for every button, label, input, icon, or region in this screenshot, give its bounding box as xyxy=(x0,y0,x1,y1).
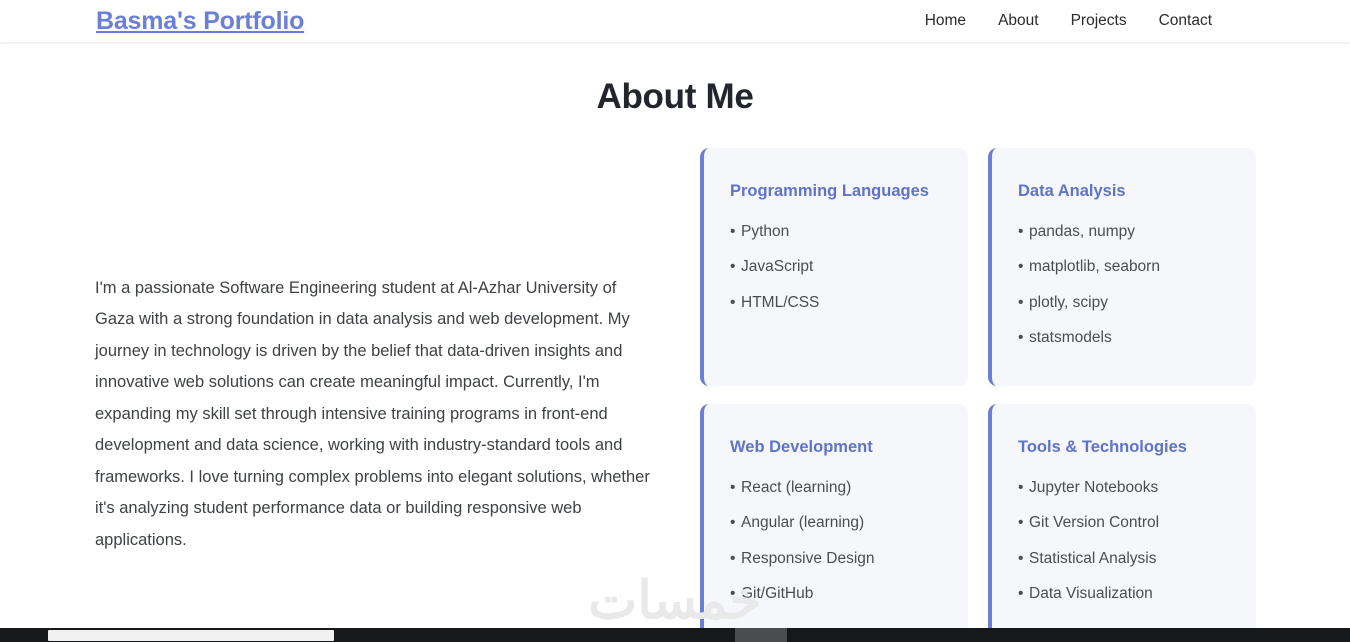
skill-list-item: •plotly, scipy xyxy=(1018,295,1230,311)
bullet-icon: • xyxy=(1018,224,1029,240)
bullet-icon: • xyxy=(1018,551,1029,567)
skill-card-data-analysis: Data Analysis •pandas, numpy •matplotlib… xyxy=(988,148,1256,386)
skill-label: HTML/CSS xyxy=(741,294,819,311)
skill-card-title: Web Development xyxy=(730,438,942,458)
skill-label: Git/GitHub xyxy=(741,585,813,602)
skill-list: •Jupyter Notebooks •Git Version Control … xyxy=(1018,480,1230,602)
scrollbar-track-marker xyxy=(735,628,787,642)
browser-viewport: Basma's Portfolio Home About Projects Co… xyxy=(0,0,1350,642)
skill-card-title: Data Analysis xyxy=(1018,182,1230,202)
skill-card-programming-languages: Programming Languages •Python •JavaScrip… xyxy=(700,148,968,386)
skill-list-item: •Data Visualization xyxy=(1018,586,1230,602)
skill-list: •React (learning) •Angular (learning) •R… xyxy=(730,480,942,602)
nav-item-about[interactable]: About xyxy=(982,13,1055,29)
skill-list: •Python •JavaScript •HTML/CSS xyxy=(730,224,942,311)
skill-card-title: Tools & Technologies xyxy=(1018,438,1230,458)
skill-list-item: •pandas, numpy xyxy=(1018,224,1230,240)
skill-label: pandas, numpy xyxy=(1029,223,1135,240)
skill-label: JavaScript xyxy=(741,258,813,275)
skill-card-title: Programming Languages xyxy=(730,182,942,202)
skill-list: •pandas, numpy •matplotlib, seaborn •plo… xyxy=(1018,224,1230,346)
skill-label: Responsive Design xyxy=(741,550,875,567)
skill-list-item: •Statistical Analysis xyxy=(1018,551,1230,567)
page-title: About Me xyxy=(0,76,1350,118)
skill-list-item: •Python xyxy=(730,224,942,240)
skill-list-item: •Angular (learning) xyxy=(730,515,942,531)
skill-list-item: •matplotlib, seaborn xyxy=(1018,259,1230,275)
horizontal-scrollbar[interactable] xyxy=(0,628,1350,642)
horizontal-scrollbar-thumb[interactable] xyxy=(48,630,334,641)
skill-label: plotly, scipy xyxy=(1029,294,1108,311)
nav-item-home[interactable]: Home xyxy=(909,13,982,29)
skills-grid: Programming Languages •Python •JavaScrip… xyxy=(700,148,1256,642)
bullet-icon: • xyxy=(1018,259,1029,275)
site-navbar: Basma's Portfolio Home About Projects Co… xyxy=(0,0,1350,42)
skill-label: Statistical Analysis xyxy=(1029,550,1157,567)
skill-list-item: •Jupyter Notebooks xyxy=(1018,480,1230,496)
skill-label: Python xyxy=(741,223,789,240)
skill-list-item: •JavaScript xyxy=(730,259,942,275)
bullet-icon: • xyxy=(1018,586,1029,602)
skill-list-item: •HTML/CSS xyxy=(730,295,942,311)
skill-list-item: •Responsive Design xyxy=(730,551,942,567)
skill-list-item: •Git Version Control xyxy=(1018,515,1230,531)
nav-item-projects[interactable]: Projects xyxy=(1055,13,1143,29)
skill-list-item: •Git/GitHub xyxy=(730,586,942,602)
bullet-icon: • xyxy=(1018,295,1029,311)
skill-card-tools-technologies: Tools & Technologies •Jupyter Notebooks … xyxy=(988,404,1256,642)
skill-label: statsmodels xyxy=(1029,329,1112,346)
bullet-icon: • xyxy=(730,259,741,275)
bullet-icon: • xyxy=(730,551,741,567)
nav-links: Home About Projects Contact xyxy=(909,13,1228,29)
nav-item-contact[interactable]: Contact xyxy=(1143,13,1228,29)
skill-list-item: •statsmodels xyxy=(1018,330,1230,346)
skill-label: React (learning) xyxy=(741,479,851,496)
skill-label: Git Version Control xyxy=(1029,514,1159,531)
skill-card-web-development: Web Development •React (learning) •Angul… xyxy=(700,404,968,642)
about-paragraph: I'm a passionate Software Engineering st… xyxy=(95,273,655,557)
skill-label: matplotlib, seaborn xyxy=(1029,258,1160,275)
skill-label: Data Visualization xyxy=(1029,585,1153,602)
bullet-icon: • xyxy=(1018,480,1029,496)
skill-label: Jupyter Notebooks xyxy=(1029,479,1158,496)
bullet-icon: • xyxy=(730,515,741,531)
bullet-icon: • xyxy=(1018,515,1029,531)
brand-logo-text[interactable]: Basma's Portfolio xyxy=(96,9,304,34)
bullet-icon: • xyxy=(730,480,741,496)
bullet-icon: • xyxy=(1018,330,1029,346)
bullet-icon: • xyxy=(730,295,741,311)
skill-label: Angular (learning) xyxy=(741,514,864,531)
skill-list-item: •React (learning) xyxy=(730,480,942,496)
bullet-icon: • xyxy=(730,224,741,240)
bullet-icon: • xyxy=(730,586,741,602)
